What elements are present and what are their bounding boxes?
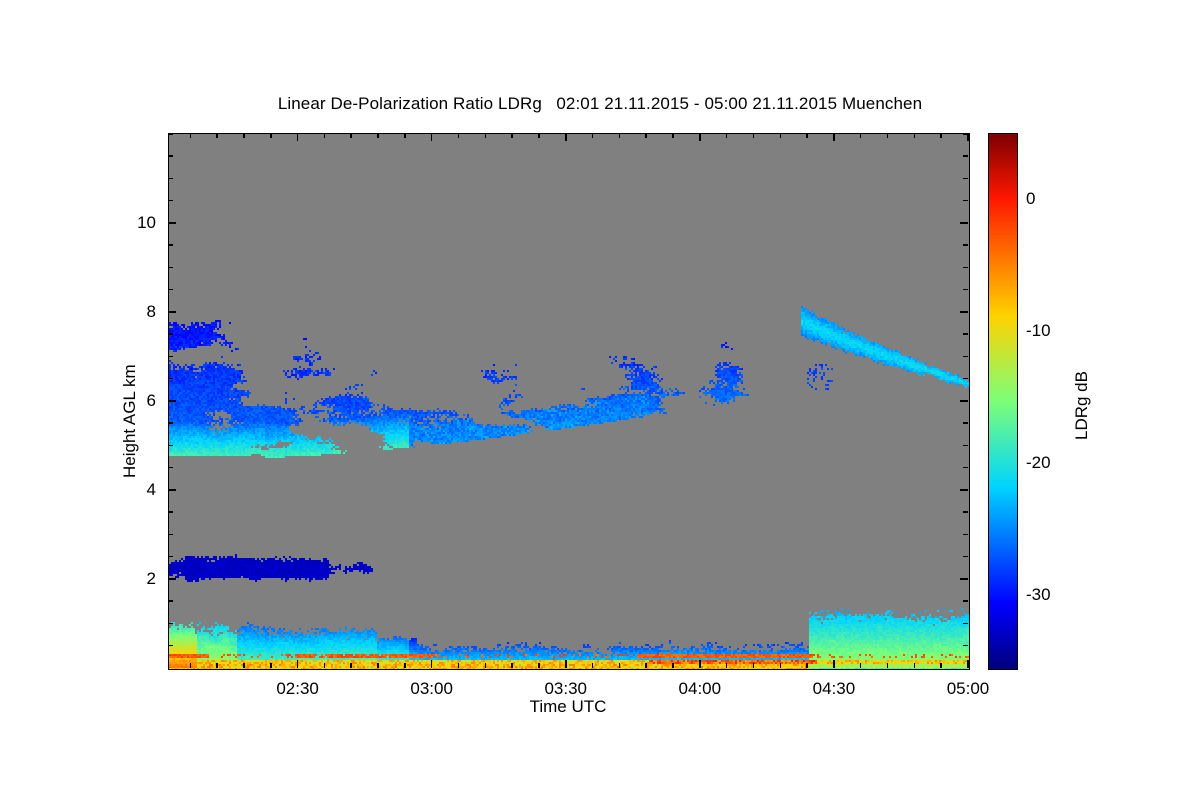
x-axis-title: Time UTC (168, 697, 968, 717)
x-tick-minor-top (780, 133, 782, 138)
x-tick-major (833, 660, 835, 668)
x-tick-minor (216, 663, 218, 668)
x-tick-major-top (297, 133, 299, 141)
x-tick-minor-top (940, 133, 942, 138)
x-tick-minor (404, 663, 406, 668)
y-tick-major-right (960, 400, 968, 402)
x-tick-minor (190, 663, 192, 668)
x-tick-minor-top (404, 133, 406, 138)
x-tick-label: 05:00 (923, 679, 1013, 699)
x-tick-minor (350, 663, 352, 668)
y-tick-major (168, 578, 176, 580)
y-tick-minor-right (963, 244, 968, 246)
y-tick-major (168, 489, 176, 491)
x-tick-minor-top (216, 133, 218, 138)
x-tick-major (431, 660, 433, 668)
y-tick-major (168, 400, 176, 402)
plot-area[interactable] (168, 133, 970, 670)
x-tick-minor (806, 663, 808, 668)
x-tick-major (699, 660, 701, 668)
y-tick-minor (168, 534, 173, 536)
y-tick-minor (168, 645, 173, 647)
colorbar[interactable] (988, 133, 1018, 670)
x-tick-minor-top (324, 133, 326, 138)
y-tick-label: 8 (96, 302, 156, 322)
x-tick-minor-top (672, 133, 674, 138)
y-tick-minor-right (963, 511, 968, 513)
x-tick-minor-top (645, 133, 647, 138)
y-tick-major-right (960, 489, 968, 491)
x-tick-major-top (833, 133, 835, 141)
x-tick-label: 04:30 (789, 679, 879, 699)
y-tick-minor (168, 623, 173, 625)
x-tick-minor (324, 663, 326, 668)
x-tick-major (565, 660, 567, 668)
x-tick-minor (511, 663, 513, 668)
y-tick-minor-right (963, 200, 968, 202)
y-tick-minor-right (963, 178, 968, 180)
x-tick-major (297, 660, 299, 668)
y-tick-minor-right (963, 556, 968, 558)
y-tick-minor-right (963, 645, 968, 647)
y-tick-major-right (960, 311, 968, 313)
x-tick-major-top (699, 133, 701, 141)
x-tick-minor (753, 663, 755, 668)
y-tick-minor-right (963, 467, 968, 469)
x-tick-minor-top (860, 133, 862, 138)
ldr-heatmap-canvas[interactable] (169, 134, 969, 669)
x-tick-minor-top (270, 133, 272, 138)
x-tick-label: 03:30 (521, 679, 611, 699)
x-tick-minor (780, 663, 782, 668)
x-tick-label: 04:00 (655, 679, 745, 699)
y-tick-minor-right (963, 378, 968, 380)
x-tick-label: 03:00 (387, 679, 477, 699)
y-tick-minor (168, 333, 173, 335)
y-tick-minor-right (963, 600, 968, 602)
x-tick-minor-top (887, 133, 889, 138)
colorbar-tick-label: -10 (1026, 321, 1051, 341)
x-tick-minor (940, 663, 942, 668)
x-tick-minor-top (485, 133, 487, 138)
y-tick-major (168, 222, 176, 224)
y-tick-minor-right (963, 155, 968, 157)
y-tick-minor (168, 200, 173, 202)
x-tick-minor-top (592, 133, 594, 138)
colorbar-tick-label: -30 (1026, 585, 1051, 605)
x-tick-minor (538, 663, 540, 668)
y-tick-major (168, 311, 176, 313)
y-tick-minor (168, 289, 173, 291)
y-tick-label: 4 (96, 480, 156, 500)
colorbar-tick-label: -20 (1026, 453, 1051, 473)
x-tick-minor-top (753, 133, 755, 138)
x-tick-minor (592, 663, 594, 668)
y-tick-minor-right (963, 623, 968, 625)
x-tick-minor-top (726, 133, 728, 138)
y-tick-minor (168, 133, 173, 135)
x-tick-label: 02:30 (253, 679, 343, 699)
y-tick-minor-right (963, 534, 968, 536)
y-tick-minor-right (963, 333, 968, 335)
x-tick-minor (860, 663, 862, 668)
y-tick-minor (168, 511, 173, 513)
y-tick-minor (168, 467, 173, 469)
y-tick-label: 10 (96, 213, 156, 233)
y-tick-minor (168, 378, 173, 380)
y-tick-minor-right (963, 445, 968, 447)
x-tick-minor (914, 663, 916, 668)
x-tick-minor-top (511, 133, 513, 138)
x-tick-minor-top (619, 133, 621, 138)
x-tick-minor (645, 663, 647, 668)
x-tick-minor (619, 663, 621, 668)
colorbar-tick-label: 0 (1026, 189, 1035, 209)
x-tick-minor (672, 663, 674, 668)
x-tick-minor-top (458, 133, 460, 138)
x-tick-major-top (565, 133, 567, 141)
x-tick-minor-top (243, 133, 245, 138)
page-title: Linear De-Polarization Ratio LDRg 02:01 … (0, 94, 1200, 114)
y-tick-minor (168, 445, 173, 447)
x-tick-major-top (431, 133, 433, 141)
x-tick-minor-top (538, 133, 540, 138)
y-tick-minor (168, 267, 173, 269)
x-tick-minor-top (914, 133, 916, 138)
y-tick-minor (168, 178, 173, 180)
radar-ldr-figure: Linear De-Polarization Ratio LDRg 02:01 … (0, 0, 1200, 800)
x-tick-minor (243, 663, 245, 668)
x-tick-minor (377, 663, 379, 668)
y-tick-major-right (960, 222, 968, 224)
y-tick-minor-right (963, 422, 968, 424)
x-tick-minor (726, 663, 728, 668)
y-tick-label: 2 (96, 569, 156, 589)
x-tick-major (967, 660, 969, 668)
x-tick-minor (887, 663, 889, 668)
x-tick-minor-top (377, 133, 379, 138)
y-tick-minor (168, 244, 173, 246)
colorbar-gradient (989, 134, 1017, 669)
y-tick-minor (168, 356, 173, 358)
y-axis-title: Height AGL km (120, 364, 140, 478)
x-tick-minor (270, 663, 272, 668)
x-tick-minor (485, 663, 487, 668)
y-tick-minor-right (963, 289, 968, 291)
x-tick-minor-top (190, 133, 192, 138)
y-tick-minor (168, 556, 173, 558)
colorbar-title: LDRg dB (1072, 371, 1092, 440)
y-tick-minor-right (963, 267, 968, 269)
x-tick-minor-top (350, 133, 352, 138)
x-tick-minor-top (806, 133, 808, 138)
y-tick-minor (168, 155, 173, 157)
y-tick-minor-right (963, 356, 968, 358)
y-tick-major-right (960, 578, 968, 580)
y-tick-minor (168, 422, 173, 424)
x-tick-major-top (967, 133, 969, 141)
x-tick-minor (458, 663, 460, 668)
y-tick-minor (168, 600, 173, 602)
